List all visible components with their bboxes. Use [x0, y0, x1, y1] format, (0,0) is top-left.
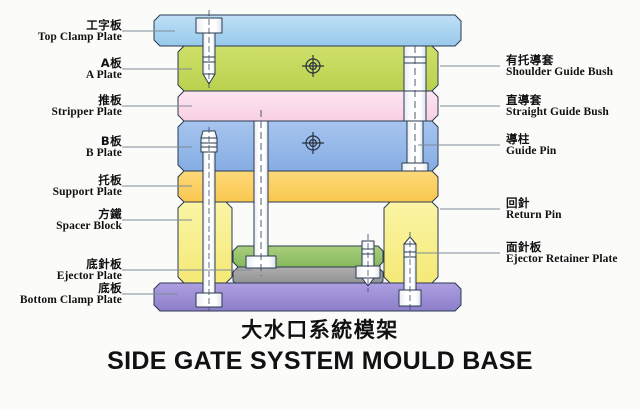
label-return-pin-en: Return Pin	[506, 210, 562, 222]
label-b-plate-cn: B板	[4, 136, 122, 148]
label-spacer-block-cn: 方鐵	[4, 209, 122, 221]
label-a-plate-en: A Plate	[4, 70, 122, 82]
label-stripper-plate-cn: 推板	[4, 95, 122, 107]
label-shoulder-guide-bush-en: Shoulder Guide Bush	[506, 67, 613, 79]
label-ejector-retainer-plate-cn: 面針板	[506, 242, 618, 254]
label-ejector-retainer-plate: 面針板 Ejector Retainer Plate	[506, 242, 618, 265]
plate-support-plate	[178, 171, 438, 202]
plate-a-plate	[178, 46, 438, 91]
label-spacer-block-en: Spacer Block	[4, 221, 122, 233]
label-a-plate-cn: A板	[4, 58, 122, 70]
label-stripper-plate-en: Stripper Plate	[4, 107, 122, 119]
label-guide-pin-en: Guide Pin	[506, 146, 556, 158]
label-guide-pin-cn: 導柱	[506, 134, 556, 146]
label-straight-guide-bush-cn: 直導套	[506, 95, 609, 107]
label-straight-guide-bush-en: Straight Guide Bush	[506, 107, 609, 119]
label-support-plate: 托板 Support Plate	[4, 175, 122, 198]
label-top-clamp-plate-cn: 工字板	[4, 20, 122, 32]
label-bottom-clamp-plate: 底板 Bottom Clamp Plate	[0, 283, 122, 306]
label-support-plate-cn: 托板	[4, 175, 122, 187]
label-ejector-retainer-plate-en: Ejector Retainer Plate	[506, 254, 618, 266]
label-return-pin-cn: 回針	[506, 198, 562, 210]
diagram-title-en: SIDE GATE SYSTEM MOULD BASE	[0, 347, 640, 376]
label-bottom-clamp-plate-cn: 底板	[0, 283, 122, 295]
label-support-plate-en: Support Plate	[4, 187, 122, 199]
label-a-plate: A板 A Plate	[4, 58, 122, 81]
diagram-title-cn: 大水口系統模架	[0, 314, 640, 344]
label-straight-guide-bush: 直導套 Straight Guide Bush	[506, 95, 609, 118]
diagram-page: 工字板 Top Clamp Plate A板 A Plate 推板 Stripp…	[0, 0, 640, 410]
label-shoulder-guide-bush-cn: 有托導套	[506, 55, 613, 67]
label-guide-pin: 導柱 Guide Pin	[506, 134, 556, 157]
label-spacer-block: 方鐵 Spacer Block	[4, 209, 122, 232]
label-ejector-plate: 底針板 Ejector Plate	[4, 259, 122, 282]
label-top-clamp-plate: 工字板 Top Clamp Plate	[4, 20, 122, 43]
label-return-pin: 回針 Return Pin	[506, 198, 562, 221]
plate-stripper-plate	[178, 91, 438, 121]
label-b-plate: B板 B Plate	[4, 136, 122, 159]
diagram-title: 大水口系統模架 SIDE GATE SYSTEM MOULD BASE	[0, 314, 640, 376]
label-bottom-clamp-plate-en: Bottom Clamp Plate	[0, 295, 122, 307]
label-shoulder-guide-bush: 有托導套 Shoulder Guide Bush	[506, 55, 613, 78]
label-ejector-plate-cn: 底針板	[4, 259, 122, 271]
label-stripper-plate: 推板 Stripper Plate	[4, 95, 122, 118]
label-top-clamp-plate-en: Top Clamp Plate	[4, 32, 122, 44]
label-b-plate-en: B Plate	[4, 148, 122, 160]
